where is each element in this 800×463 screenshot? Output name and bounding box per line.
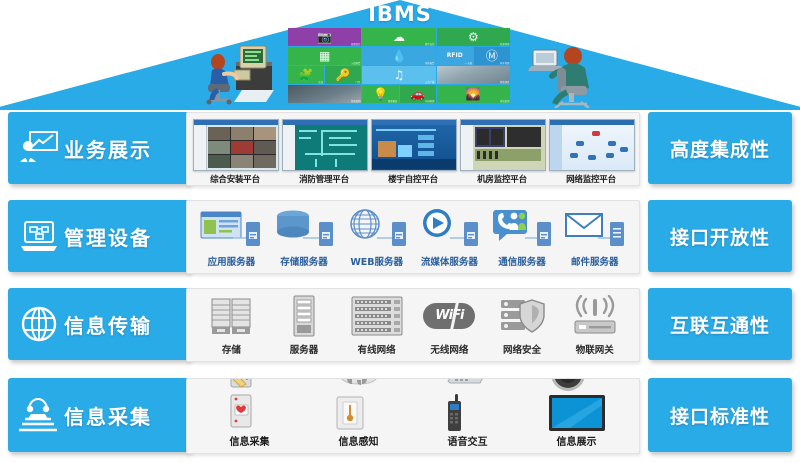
- feature-badge-label: 高度集成性: [670, 135, 770, 162]
- network-label: 无线网络: [430, 342, 468, 356]
- sidebar-item-label: 信息采集: [64, 401, 152, 430]
- bms-hvac-screenshot: [371, 119, 457, 171]
- sidebar-item-management-devices[interactable]: 管理设备: [8, 200, 190, 272]
- device-group-label: 信息采集: [230, 433, 270, 448]
- roof-tile-intelligent-lighting[interactable]: 智能照明: [288, 85, 361, 103]
- feature-badge-interconnection[interactable]: 互联互通性: [648, 288, 792, 360]
- roof-tile-rfid-card[interactable]: RFID 一卡通: [437, 47, 473, 65]
- page-title: IBMS: [0, 2, 800, 26]
- platform-item[interactable]: 综合安装平台: [193, 119, 277, 185]
- network-item[interactable]: 存储: [195, 289, 268, 361]
- network-item[interactable]: 网络安全: [486, 289, 559, 361]
- wifi-icon: WiFi: [413, 289, 486, 342]
- server-shield-icon: [486, 289, 559, 342]
- envelope-server-icon: [558, 201, 631, 254]
- person-at-desktop-computer-icon: [196, 44, 278, 106]
- sidebar-item-label: 管理设备: [64, 222, 152, 251]
- sidebar-item-information-collection[interactable]: 信息采集: [8, 378, 190, 452]
- network-label: 存储: [222, 342, 241, 356]
- server-item[interactable]: WEB服务器: [340, 201, 413, 273]
- card-reader-icon: [227, 378, 273, 393]
- key-icon: 🔑: [336, 69, 351, 81]
- walkie-talkie-icon: [444, 393, 492, 433]
- platform-label: 楼宇自控平台: [371, 173, 455, 185]
- panel-information-collection: 信息采集: [186, 378, 640, 454]
- globe-icon: [18, 303, 60, 345]
- smoke-detector-icon: [335, 378, 383, 395]
- database-cylinder-server-icon: [268, 201, 341, 254]
- rfid-icon: RFID: [447, 53, 463, 59]
- device-group-label: 信息感知: [339, 433, 379, 448]
- roof-tile-public-broadcast[interactable]: ♫ 公共广播: [362, 66, 435, 84]
- emergency-button-icon: [227, 393, 273, 433]
- device-group[interactable]: 信息展示: [522, 379, 631, 453]
- music-note-icon: ♫: [394, 69, 405, 81]
- communication-people-server-icon: [486, 201, 559, 254]
- roof-tile-fire-alarm[interactable]: 💧 消防报警: [362, 47, 435, 65]
- server-label: 应用服务器: [208, 254, 256, 268]
- gear-sun-icon: ⚙: [468, 31, 479, 43]
- datacenter-monitor-screenshot: [460, 119, 546, 171]
- cctv-camera-icon: 📷: [317, 31, 332, 43]
- platform-label: 机房监控平台: [460, 173, 544, 185]
- play-circle-server-icon: [413, 201, 486, 254]
- roof-tile-building-automation[interactable]: ☁ 楼宇自控: [362, 28, 435, 46]
- storage-rack-icon: [195, 289, 268, 342]
- server-item[interactable]: 应用服务器: [195, 201, 268, 273]
- ip-phone-icon: [444, 378, 492, 393]
- sidebar-item-label: 业务展示: [64, 134, 152, 163]
- laptop-network-icon: [18, 215, 60, 257]
- server-label: WEB服务器: [350, 254, 403, 268]
- platform-label: 网络监控平台: [549, 173, 633, 185]
- roof-tile-information[interactable]: 🧩 信息: [288, 66, 324, 84]
- grid-window-icon: ▦: [319, 50, 330, 62]
- device-group-label: 语音交互: [448, 433, 488, 448]
- temperature-switch-panel-icon: [335, 395, 383, 433]
- roof-tile-energy-management[interactable]: ⚙ 能源管理: [437, 28, 510, 46]
- network-item[interactable]: 服务器: [268, 289, 341, 361]
- presentation-person-icon: [18, 127, 60, 169]
- sidebar-item-business-display[interactable]: 业务展示: [8, 112, 190, 184]
- network-item[interactable]: 有线网络: [340, 289, 413, 361]
- server-item[interactable]: 存储服务器: [268, 201, 341, 273]
- platform-label: 消防管理平台: [282, 173, 366, 185]
- network-label: 网络安全: [503, 342, 541, 356]
- panel-information-transfer: 存储 服务器: [186, 288, 640, 362]
- roof-tile-parking-management[interactable]: Ⓜ 停车管理: [474, 47, 510, 65]
- puzzle-icon: 🧩: [299, 69, 314, 81]
- server-label: 通信服务器: [498, 254, 546, 268]
- platform-item[interactable]: 消防管理平台: [282, 119, 366, 185]
- speaker-dome-icon: [548, 378, 606, 393]
- network-item[interactable]: WiFi 无线网络: [413, 289, 486, 361]
- globe-wireframe-server-icon: [340, 201, 413, 254]
- device-group[interactable]: 信息采集: [195, 379, 304, 453]
- roof-tile-video-surveillance[interactable]: 📷 视频监控: [288, 28, 361, 46]
- platform-label: 综合安装平台: [193, 173, 277, 185]
- roof-tile-intrusion-alarm[interactable]: ▦ 入侵报警: [288, 47, 361, 65]
- water-drop-icon: 💧: [392, 50, 407, 62]
- server-item[interactable]: 邮件服务器: [558, 201, 631, 273]
- sensor-antenna-icon: [18, 394, 60, 436]
- sidebar-item-information-transfer[interactable]: 信息传输: [8, 288, 190, 360]
- server-label: 邮件服务器: [571, 254, 619, 268]
- network-label: 服务器: [290, 342, 319, 356]
- patch-panel-icon: [340, 289, 413, 342]
- ibms-architecture-diagram: IBMS: [0, 0, 800, 463]
- server-item[interactable]: 通信服务器: [486, 201, 559, 273]
- roof-tile-smart-home[interactable]: 💡 智能家居: [362, 85, 398, 103]
- platform-item[interactable]: 机房监控平台: [460, 119, 544, 185]
- parking-icon: Ⓜ: [486, 50, 498, 62]
- feature-badge-label: 互联互通性: [670, 311, 770, 338]
- application-window-server-icon: [195, 201, 268, 254]
- roof-tile-vehicle-management[interactable]: 🚗 车辆管理: [400, 85, 436, 103]
- car-icon: 🚗: [410, 88, 425, 100]
- fire-cad-screenshot: [282, 119, 368, 171]
- cctv-multiview-screenshot: [193, 119, 279, 171]
- iot-gateway-antenna-icon: [558, 289, 631, 342]
- device-group[interactable]: 语音交互: [413, 379, 522, 453]
- network-item[interactable]: 物联网关: [558, 289, 631, 361]
- server-tower-icon: [268, 289, 341, 342]
- network-topology-screenshot: [549, 119, 635, 171]
- device-group[interactable]: 信息感知: [304, 379, 413, 453]
- sidebar-item-label: 信息传输: [64, 310, 152, 339]
- network-label: 有线网络: [358, 342, 396, 356]
- panel-management-devices: 应用服务器 存储服务器: [186, 200, 640, 274]
- roof-tile-grid: 📷 视频监控 ☁ 楼宇自控 ⚙ 能源管理 ▦ 入侵报警 💧 消防报警 RFID: [288, 28, 510, 103]
- server-item[interactable]: 流媒体服务器: [413, 201, 486, 273]
- server-label: 存储服务器: [280, 254, 328, 268]
- platform-item[interactable]: 楼宇自控平台: [371, 119, 455, 185]
- feature-badge-label: 接口开放性: [670, 223, 770, 250]
- network-label: 物联网关: [576, 342, 614, 356]
- display-screen-icon: [548, 393, 606, 433]
- feature-badge-open-interface[interactable]: 接口开放性: [648, 200, 792, 272]
- feature-badge-standard-interface[interactable]: 接口标准性: [648, 378, 792, 452]
- server-label: 流媒体服务器: [421, 254, 478, 268]
- landscape-icon: 🌄: [466, 88, 481, 100]
- roof-tile-environment-monitoring[interactable]: 🌄 环境监测: [437, 85, 510, 103]
- device-group-label: 信息展示: [557, 433, 597, 448]
- platform-item[interactable]: 网络监控平台: [549, 119, 633, 185]
- feature-badge-label: 接口标准性: [670, 402, 770, 429]
- roof-tile-access-control[interactable]: 🔑 门禁: [325, 66, 361, 84]
- feature-badge-high-integration[interactable]: 高度集成性: [648, 112, 792, 184]
- roof-tile-intelligent-building[interactable]: 智能建筑: [437, 66, 510, 84]
- cloud-icon: ☁: [393, 31, 405, 43]
- person-on-chair-with-laptop-icon: [527, 42, 599, 108]
- lamp-icon: 💡: [373, 88, 388, 100]
- roof-header: IBMS: [0, 0, 800, 110]
- panel-business-display: 综合安装平台 消防: [186, 112, 640, 186]
- wifi-label: WiFi: [423, 303, 475, 329]
